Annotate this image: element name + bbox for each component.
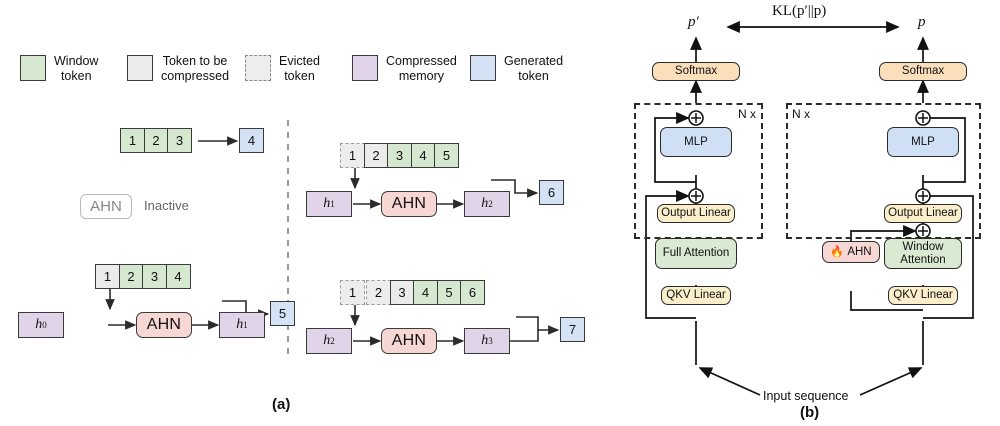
window-attention-line2: Attention [900,254,945,266]
qkv-linear-block-right: QKV Linear [888,286,958,305]
flame-icon: 🔥 [830,246,844,259]
caption-b: (b) [800,404,819,421]
window-attention-block: Window Attention [884,238,962,269]
qkv-linear-block-left: QKV Linear [661,286,731,305]
kl-divergence-label: KL(p′||p) [772,3,826,20]
input-sequence-label: Input sequence [763,389,849,403]
softmax-block-left: Softmax [652,62,740,81]
window-attention-line1: Window [903,241,944,253]
mlp-block-left: MLP [660,127,732,157]
output-linear-block-right: Output Linear [884,204,962,223]
repeat-count-right: N x [792,107,810,121]
repeat-count-left: N x [738,107,756,121]
ahn-block-trainable: 🔥 AHN [822,241,880,263]
output-distribution-right: p [918,14,926,31]
output-distribution-left: p′ [688,14,699,31]
ahn-label: AHN [847,246,871,259]
full-attention-block: Full Attention [655,238,737,269]
softmax-block-right: Softmax [879,62,967,81]
mlp-block-right: MLP [887,127,959,157]
output-linear-block-left: Output Linear [657,204,735,223]
